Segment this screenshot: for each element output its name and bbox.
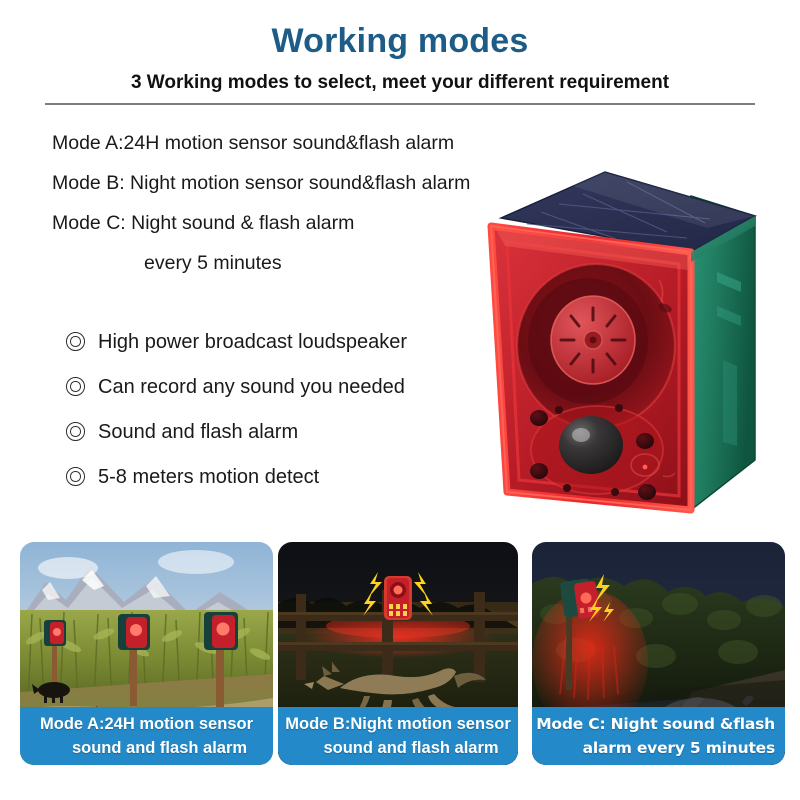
double-circle-bullet-icon	[66, 422, 86, 442]
double-circle-bullet-icon	[66, 377, 86, 397]
double-circle-bullet-icon	[66, 332, 86, 352]
card-caption: Mode C: Night sound &flash alarm every 5…	[532, 707, 785, 765]
mode-line-a: Mode A:24H motion sensor sound&flash ala…	[52, 131, 572, 156]
caption-line-2: sound and flash alarm	[20, 736, 273, 760]
caption-line-2: alarm every 5 minutes	[532, 736, 785, 760]
feature-label: 5-8 meters motion detect	[98, 465, 319, 489]
page-subtitle: 3 Working modes to select, meet your dif…	[0, 71, 800, 95]
card-caption: Mode A:24H motion sensor sound and flash…	[20, 707, 273, 765]
page-root: Working modes 3 Working modes to select,…	[0, 0, 800, 800]
caption-line-2: sound and flash alarm	[278, 736, 518, 760]
mode-card-a[interactable]: Mode A:24H motion sensor sound and flash…	[20, 542, 273, 765]
page-title: Working modes	[0, 20, 800, 62]
double-circle-bullet-icon	[66, 467, 86, 487]
feature-label: Sound and flash alarm	[98, 420, 298, 444]
caption-line-1: Mode B:Night motion sensor	[278, 712, 518, 736]
mode-card-b[interactable]: Mode B:Night motion sensor sound and fla…	[278, 542, 518, 765]
product-image	[455, 160, 785, 530]
header-divider	[45, 103, 755, 105]
caption-line-1: Mode A:24H motion sensor	[20, 712, 273, 736]
caption-line-1: Mode C: Night sound &flash	[532, 712, 785, 736]
feature-label: Can record any sound you needed	[98, 375, 405, 399]
card-caption: Mode B:Night motion sensor sound and fla…	[278, 707, 518, 765]
alarm-device	[384, 576, 412, 620]
mode-card-c[interactable]: Mode C: Night sound &flash alarm every 5…	[532, 542, 785, 765]
feature-label: High power broadcast loudspeaker	[98, 330, 407, 354]
